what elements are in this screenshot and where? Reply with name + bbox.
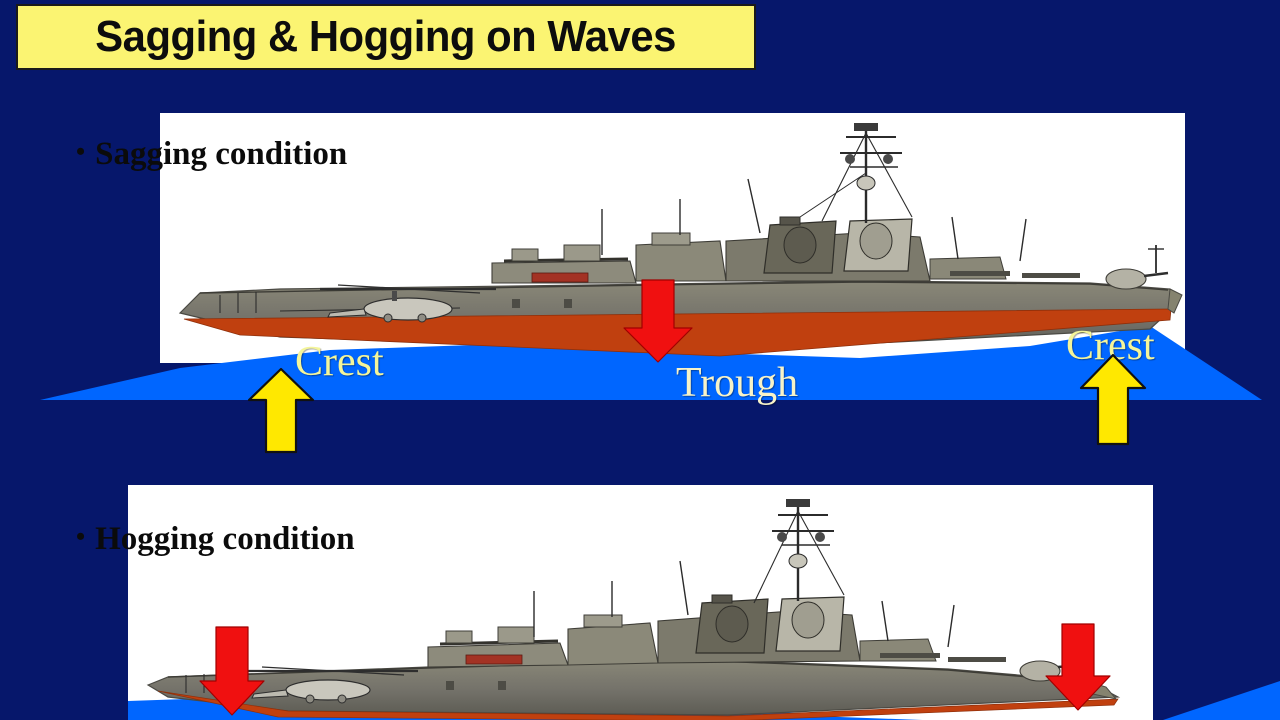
weight-arrow-left: [198, 625, 268, 717]
bullet-dot-icon: •: [76, 137, 85, 167]
sagging-condition-caption: •Sagging condition: [76, 136, 347, 173]
bullet-dot-icon: •: [76, 522, 85, 552]
buoyancy-arrow-left: [246, 366, 316, 456]
hogging-condition-caption: •Hogging condition: [76, 521, 355, 558]
slide-title-box: Sagging & Hogging on Waves: [16, 4, 756, 70]
weight-arrow-right: [1044, 622, 1114, 712]
hogging-caption-text: Hogging condition: [95, 521, 354, 557]
sagging-caption-text: Sagging condition: [95, 136, 347, 172]
weight-arrow-center: [620, 278, 696, 364]
slide-canvas: Sagging & Hogging on Waves: [0, 0, 1280, 720]
page-title: Sagging & Hogging on Waves: [96, 12, 677, 62]
label-trough: Trough: [676, 362, 798, 404]
buoyancy-arrow-right: [1078, 352, 1148, 448]
